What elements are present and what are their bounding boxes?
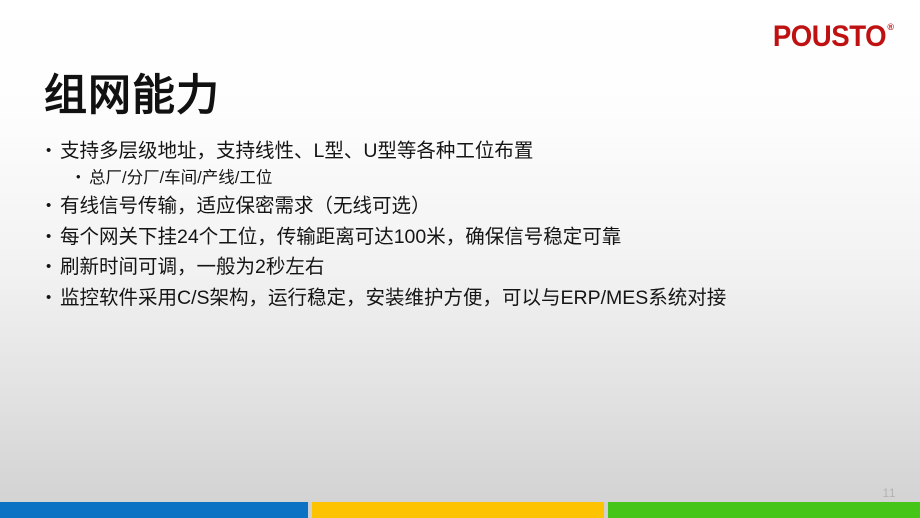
bullet-text: 支持多层级地址，支持线性、L型、U型等各种工位布置 — [60, 136, 874, 166]
page-number: 11 — [883, 486, 896, 500]
footer-bar-green — [608, 502, 920, 518]
page-title: 组网能力 — [44, 73, 220, 120]
bullet-item: •刷新时间可调，一般为2秒左右 — [44, 252, 874, 282]
bullet-marker-icon: • — [46, 286, 60, 309]
bullet-item: •监控软件采用C/S架构，运行稳定，安装维护方便，可以与ERP/MES系统对接 — [44, 283, 874, 313]
bullet-text: 每个网关下挂24个工位，传输距离可达100米，确保信号稳定可靠 — [60, 222, 874, 252]
bullet-text: 监控软件采用C/S架构，运行稳定，安装维护方便，可以与ERP/MES系统对接 — [60, 283, 874, 313]
pousto-logo: POUSTO ® — [763, 22, 894, 52]
bullet-item: •支持多层级地址，支持线性、L型、U型等各种工位布置 — [44, 136, 874, 166]
bullet-marker-icon: • — [46, 194, 60, 217]
bullet-list: •支持多层级地址，支持线性、L型、U型等各种工位布置•总厂/分厂/车间/产线/工… — [44, 136, 874, 313]
slide-canvas: POUSTO ® 组网能力 •支持多层级地址，支持线性、L型、U型等各种工位布置… — [0, 0, 920, 518]
footer-color-bars — [0, 502, 920, 518]
bullet-item: •有线信号传输，适应保密需求（无线可选） — [44, 191, 874, 221]
bullet-marker-icon: • — [76, 167, 89, 187]
footer-bar-yellow — [312, 502, 604, 518]
bullet-item: •总厂/分厂/车间/产线/工位 — [44, 166, 874, 191]
footer-bar-blue — [0, 502, 308, 518]
bullet-marker-icon: • — [46, 139, 60, 162]
bullet-text: 有线信号传输，适应保密需求（无线可选） — [60, 191, 874, 221]
bullet-marker-icon: • — [46, 225, 60, 248]
bullet-item: •每个网关下挂24个工位，传输距离可达100米，确保信号稳定可靠 — [44, 222, 874, 252]
bullet-marker-icon: • — [46, 255, 60, 278]
registered-trademark-icon: ® — [887, 23, 894, 32]
bullet-text: 总厂/分厂/车间/产线/工位 — [89, 166, 874, 191]
bullet-text: 刷新时间可调，一般为2秒左右 — [60, 252, 874, 282]
logo-wordmark: POUSTO — [773, 22, 886, 52]
